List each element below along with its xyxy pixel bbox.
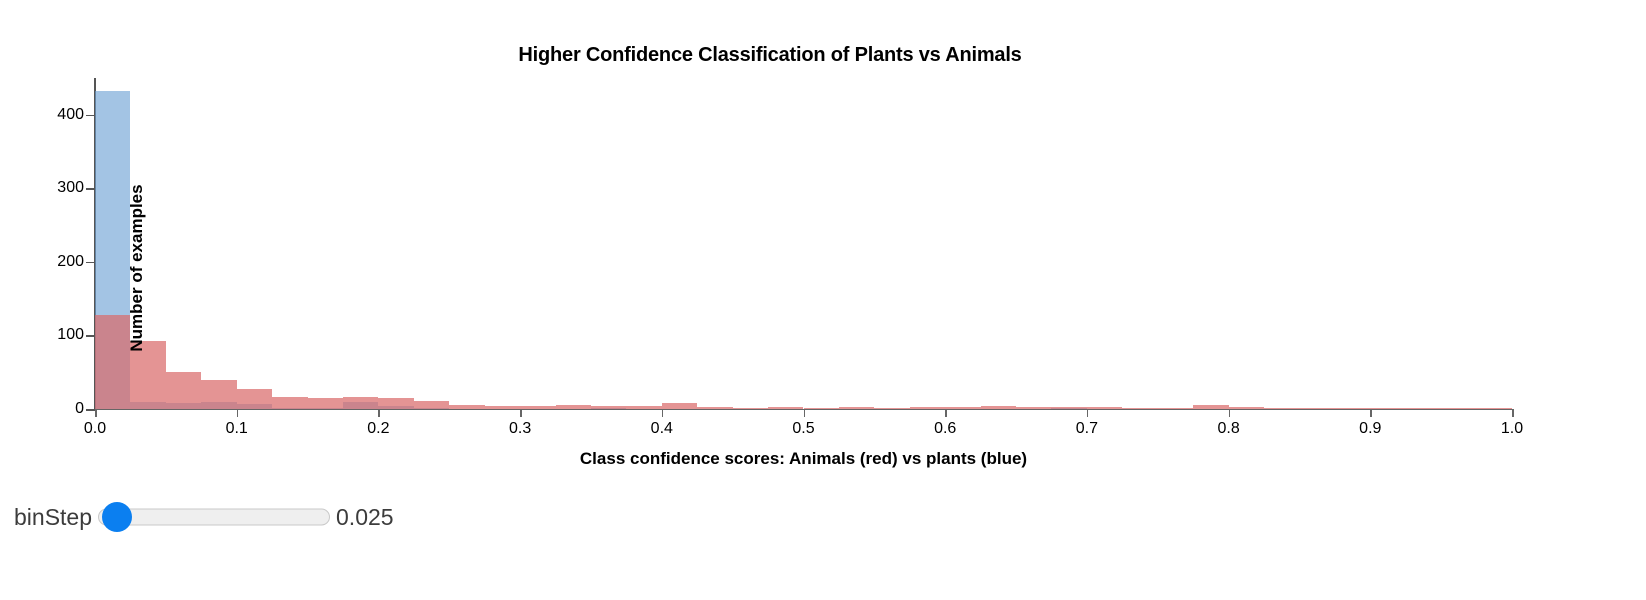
x-axis-tick: [1087, 409, 1089, 417]
x-axis-tick: [662, 409, 664, 417]
histogram-bar: [237, 389, 272, 409]
histogram-bar: [733, 408, 768, 410]
histogram-bar: [839, 407, 874, 409]
histogram-bar: [166, 372, 201, 410]
x-axis-tick: [1229, 409, 1231, 417]
histogram-bar: [272, 397, 307, 409]
histogram-bars: [95, 78, 1512, 409]
histogram-bar: [910, 407, 945, 409]
y-axis-tick-label: 100: [6, 326, 84, 344]
histogram-bar: [1370, 408, 1405, 410]
histogram-bar: [874, 408, 909, 410]
histogram-bar: [343, 397, 378, 410]
histogram-bar: [945, 407, 980, 409]
y-axis-tick: [86, 409, 95, 411]
histogram-bar: [378, 398, 413, 409]
y-axis-tick-labels: 0100200300400: [0, 0, 84, 487]
x-axis-tick-label: 0.6: [905, 420, 985, 438]
histogram-bar: [1299, 408, 1334, 410]
x-axis-tick-label: 0.5: [764, 420, 844, 438]
slider-track[interactable]: [98, 509, 330, 526]
bin-step-slider-label: binStep: [14, 506, 94, 529]
x-axis-tick: [945, 409, 947, 417]
histogram-bar: [1441, 408, 1476, 410]
x-axis-tick-label: 0.8: [1189, 420, 1269, 438]
x-axis-tick-label: 0.2: [338, 420, 418, 438]
histogram-bar: [662, 403, 697, 409]
histogram-bar: [768, 407, 803, 409]
x-axis-tick: [378, 409, 380, 417]
x-axis-tick: [1512, 409, 1514, 417]
histogram-bar: [1087, 407, 1122, 409]
histogram-bar: [201, 380, 236, 409]
histogram-bar: [1477, 408, 1512, 410]
bin-step-slider[interactable]: [94, 500, 332, 534]
histogram-bar: [1158, 408, 1193, 410]
x-axis-tick-label: 0.1: [197, 420, 277, 438]
bin-step-slider-row: binStep 0.025: [14, 494, 394, 540]
histogram-bar: [804, 408, 839, 410]
histogram-bar: [626, 406, 661, 409]
y-axis-title: Number of examples: [127, 118, 147, 418]
histogram-bar: [1051, 407, 1086, 409]
histogram-bar: [591, 406, 626, 409]
histogram-figure: Higher Confidence Classification of Plan…: [0, 0, 1646, 487]
x-axis-tick: [237, 409, 239, 417]
x-axis-tick: [1370, 409, 1372, 417]
histogram-bar: [1016, 407, 1051, 409]
x-axis-tick-label: 0.7: [1047, 420, 1127, 438]
x-axis-tick-label: 0.4: [622, 420, 702, 438]
x-axis-tick-label: 1.0: [1472, 420, 1552, 438]
histogram-bar: [1229, 407, 1264, 409]
x-axis-tick: [95, 409, 97, 417]
histogram-bar: [1122, 408, 1157, 410]
histogram-bar: [449, 405, 484, 409]
slider-thumb[interactable]: [102, 502, 132, 532]
histogram-bar: [1335, 408, 1370, 410]
y-axis-tick-label: 300: [6, 179, 84, 197]
y-axis-tick-label: 200: [6, 253, 84, 271]
histogram-bar: [1264, 408, 1299, 410]
x-axis-tick-label: 0.9: [1330, 420, 1410, 438]
histogram-bar: [520, 406, 555, 409]
histogram-bar: [308, 398, 343, 409]
bin-step-slider-value: 0.025: [332, 506, 394, 529]
chart-title: Higher Confidence Classification of Plan…: [0, 44, 1540, 67]
x-axis-tick: [804, 409, 806, 417]
x-axis-tick-label: 0.3: [480, 420, 560, 438]
histogram-bar: [981, 406, 1016, 409]
histogram-bar: [414, 401, 449, 409]
histogram-bar: [697, 407, 732, 409]
histogram-bar: [485, 406, 520, 409]
x-axis-title: Class confidence scores: Animals (red) v…: [95, 449, 1512, 469]
x-axis-tick-label: 0.0: [55, 420, 135, 438]
histogram-bar: [1406, 408, 1441, 410]
histogram-bar: [1193, 405, 1228, 409]
plot-area: Number of examples: [95, 78, 1512, 409]
y-axis-tick-label: 400: [6, 106, 84, 124]
histogram-bar: [556, 405, 591, 409]
histogram-bar: [95, 315, 130, 409]
x-axis-tick: [520, 409, 522, 417]
y-axis-tick-label: 0: [6, 400, 84, 418]
